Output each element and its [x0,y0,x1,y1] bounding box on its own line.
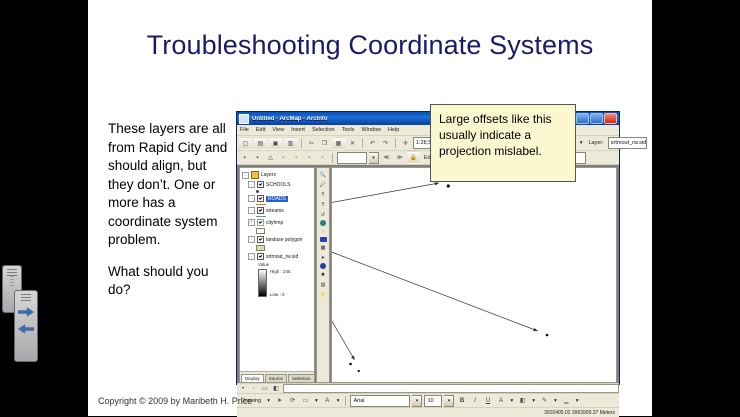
font-color-icon[interactable]: A [495,395,506,406]
new-document-icon[interactable]: ▢ [239,137,252,150]
copyright-text: Copyright © 2009 by Maribeth H. Price [98,396,252,406]
drawing-separator-1 [345,396,346,406]
toc-root-layers[interactable]: - Layers [242,171,312,179]
menu-edit[interactable]: Edit [256,127,265,133]
open-folder-icon[interactable]: ▤ [254,137,267,150]
fixed-zoom-in-icon[interactable]: ⠿ [319,190,328,199]
grip-icon-2 [21,294,31,301]
playback-controls[interactable] [14,290,38,362]
drawing-chevron-down-icon[interactable]: ▾ [265,398,272,404]
minimize-button[interactable] [576,113,589,124]
slide-body-text: These layers are all from Rapid City and… [108,120,230,313]
raster-legend-labels: High : 245 Low : 0 [270,269,291,298]
expand-collapse-icon-landuse[interactable]: - [248,236,255,243]
font-size-chevron-down-icon[interactable]: ▾ [444,395,454,407]
expand-collapse-icon-schools[interactable]: - [248,181,255,188]
expand-collapse-icon-srtm[interactable]: - [248,253,255,260]
print-icon[interactable]: ▥ [284,137,297,150]
slide-sheet: Troubleshooting Coordinate Systems These… [88,0,652,416]
previous-slide-icon[interactable] [18,323,34,335]
layers-folder-icon [251,171,259,179]
editor-icon-6[interactable]: ▫ [304,152,315,163]
tools-palette: 🔍 🔎 ⠿ ⠿ ↺ ◌ ▩ ➤ ✹ ▥ ⚡ [316,167,330,383]
map-point-4 [358,370,360,372]
annotation-arrow-1 [332,183,439,208]
add-data-icon[interactable]: ✛ [400,138,411,149]
layer-visibility-checkbox-cityhmp[interactable] [257,219,264,226]
expand-collapse-icon-streams[interactable]: - [248,207,255,214]
horizontal-scrollbar[interactable] [283,384,619,393]
callout-box: Large offsets like this usually indicate… [430,104,576,182]
toc-layer-streams[interactable]: - streams [248,207,312,214]
arcmap-document-area: - Layers - SCHOOLS [237,165,619,383]
select-arrow-icon[interactable]: ➤ [274,395,285,406]
menu-window[interactable]: Window [361,127,381,133]
menu-help[interactable]: Help [388,127,399,133]
rectangle-chevron-down-icon[interactable]: ▾ [313,398,320,404]
layer-visibility-checkbox-srtm[interactable] [257,253,264,260]
bold-icon[interactable]: B [456,395,467,406]
toc-layer-landuse[interactable]: - landuse polygon [248,236,312,243]
layer-visibility-checkbox-roads[interactable] [257,195,264,202]
maximize-button[interactable] [590,113,603,124]
identify-icon[interactable] [320,263,326,269]
toolbar-separator-2 [362,138,363,148]
toc-symbol-cityhmp [256,228,312,234]
editor-icon-9[interactable]: ≫ [394,152,405,163]
select-features-icon[interactable]: ▩ [319,243,328,252]
zoom-in-icon[interactable]: 🔍 [319,170,328,179]
map-point-2 [546,334,549,337]
toc-symbol-landuse [256,245,312,251]
editor-icon-8[interactable]: ≪ [381,152,392,163]
outline-symbol-icon [256,228,265,234]
marker-color-icon[interactable]: ▁ [561,395,572,406]
map-scrollbar-row: • ◦ ▭ ◧ [237,383,619,393]
hyperlink-icon[interactable]: ⚡ [319,290,328,299]
underline-icon[interactable]: U [482,395,493,406]
zoom-out-icon[interactable]: 🔎 [319,180,328,189]
select-elements-icon[interactable]: ➤ [319,253,328,262]
layer-visibility-checkbox-streams[interactable] [257,207,264,214]
menu-insert[interactable]: Insert [291,127,305,133]
back-extent-icon[interactable]: ◌ [319,227,328,236]
toolbar-separator-3 [395,138,396,148]
arcmap-app-icon [239,114,249,124]
copy-icon[interactable]: ❐ [319,138,330,149]
new-text-icon[interactable]: A [322,395,333,406]
save-icon[interactable]: ▣ [269,137,282,150]
toc-symbol-roads [256,204,312,205]
tab-display[interactable]: Display [241,374,264,382]
toc-symbol-streams [256,216,312,217]
toc-tree: - Layers - SCHOOLS [240,168,314,303]
editor-scale-chevron-down-icon[interactable]: ▾ [369,152,379,164]
table-of-contents[interactable]: - Layers - SCHOOLS [239,167,315,383]
window-buttons [576,113,617,124]
draw-line-icon[interactable]: ◦ [250,385,258,393]
editor-icon-2[interactable]: ▪ [252,152,263,163]
fixed-zoom-out-icon[interactable]: ⠿ [319,200,328,209]
editor-icon-4[interactable]: ▫ [278,152,289,163]
marker-color-chevron-down-icon[interactable]: ▾ [574,398,581,404]
annotation-arrow-3 [332,272,355,360]
layer-visibility-checkbox-schools[interactable] [257,181,264,188]
menu-file[interactable]: File [240,127,249,133]
tab-source[interactable]: Source [265,374,287,382]
editor-scale-input[interactable] [337,152,367,164]
toc-symbol-schools [256,190,312,193]
layer-visibility-checkbox-landuse[interactable] [257,236,264,243]
rotate-icon[interactable]: ⟳ [287,395,298,406]
tab-selection[interactable]: Selection [288,374,315,382]
toolbar-separator-1 [301,138,302,148]
fill-color-icon[interactable]: ◧ [517,395,528,406]
raster-high-label: High : 245 [270,269,291,275]
map-point-3 [349,363,352,366]
menu-selection[interactable]: Selection [312,127,335,133]
point-symbol-icon [256,190,259,193]
color-ramp-icon [258,269,267,297]
map-canvas[interactable] [331,167,617,383]
rectangle-icon[interactable]: ▭ [300,395,311,406]
raster-low-label: Low : 0 [270,292,291,298]
font-size-select[interactable]: 10 [424,395,442,407]
raster-legend-title: Value [258,262,312,267]
toc-layer-label-streams: streams [266,208,284,214]
pan-icon[interactable]: ↺ [319,210,328,219]
font-name-chevron-down-icon[interactable]: ▾ [412,395,422,407]
text-chevron-down-icon[interactable]: ▾ [335,398,342,404]
font-name-select[interactable]: Arial [350,395,410,407]
delete-icon[interactable]: ✕ [347,138,358,149]
editor-separator-1 [332,153,333,163]
undo-icon[interactable]: ↶ [367,138,378,149]
page-title: Troubleshooting Coordinate Systems [88,30,652,61]
next-slide-icon[interactable] [18,306,34,318]
toc-root-label: Layers [261,172,276,178]
layout-view-icon[interactable]: ▭ [261,385,269,393]
editor-icon-5[interactable]: ▫ [291,152,302,163]
map-graphics [332,168,616,382]
font-name-value: Arial [353,398,364,404]
paste-icon[interactable]: ▦ [332,137,345,150]
raster-color-ramp: High : 245 Low : 0 [258,269,312,298]
layer-select[interactable]: srtmout_rw.sid [608,137,647,149]
expand-collapse-icon-cityhmp[interactable]: + [248,219,255,226]
toc-layer-roads[interactable]: - ROADS [248,195,312,202]
cut-icon[interactable]: ✂ [306,138,317,149]
body-paragraph-2: What should you do? [108,263,230,300]
line-symbol-icon-streams [256,216,266,217]
toc-layer-label-srtm: srtmout_rw.sid [266,254,298,260]
toc-layer-schools[interactable]: - SCHOOLS [248,181,312,188]
fill-color-chevron-down-icon[interactable]: ▾ [530,398,537,404]
toc-layer-label-landuse: landuse polygon [266,237,302,243]
editor-lock-icon[interactable]: 🔒 [407,151,420,164]
arcmap-window-title: Untitled - ArcMap - ArcInfo [252,116,328,122]
close-button[interactable] [604,113,617,124]
drawing-toolbar: Drawing ▾ ➤ ⟳ ▭ ▾ A ▾ Arial ▾ 10 ▾ B I U… [237,393,619,407]
annotation-arrow-2 [332,238,538,331]
body-paragraph-1: These layers are all from Rapid City and… [108,120,230,250]
full-extent-icon[interactable] [320,220,326,226]
toc-layer-label-schools: SCHOOLS [266,182,290,188]
toc-tab-strip: Display Source Selection [240,371,315,382]
menu-tools[interactable]: Tools [342,127,355,133]
editor-icon-1[interactable]: ▪ [239,152,250,163]
data-view-icon[interactable]: ◧ [272,385,280,393]
line-color-icon[interactable]: ✎ [539,395,550,406]
line-symbol-icon [256,204,266,205]
slide-stage: :: :: Troubleshooting Coordinate Systems… [0,0,740,416]
font-color-chevron-down-icon[interactable]: ▾ [508,398,515,404]
map-point-1 [447,184,450,187]
spatial-analyst-chevron-down-icon[interactable]: ▾ [578,140,585,146]
toc-layer-srtm[interactable]: - srtmout_rw.sid [248,253,312,260]
italic-icon[interactable]: I [469,395,480,406]
menu-view[interactable]: View [272,127,284,133]
toc-layer-label-cityhmp: cityhmp [266,220,283,226]
find-icon[interactable]: ✹ [319,270,328,279]
polygon-symbol-icon [256,245,265,251]
expand-collapse-icon[interactable]: - [242,172,249,179]
editor-icon-7[interactable]: ▫ [317,152,328,163]
toc-layer-label-roads: ROADS [266,196,288,202]
next-extent-icon[interactable] [320,237,327,242]
status-coordinates: 3910405.02 3963909.37 Meters [544,410,615,416]
layer-label: Layer: [586,140,605,146]
playback-dots-icon-2: :: [3,282,21,288]
toc-layer-cityhmp[interactable]: + cityhmp [248,219,312,226]
editor-icon-3[interactable]: △ [265,152,276,163]
redo-icon[interactable]: ↷ [380,138,391,149]
measure-icon[interactable]: ▥ [319,280,328,289]
line-color-chevron-down-icon[interactable]: ▾ [552,398,559,404]
expand-collapse-icon-roads[interactable]: - [248,195,255,202]
draw-point-icon[interactable]: • [239,385,247,393]
